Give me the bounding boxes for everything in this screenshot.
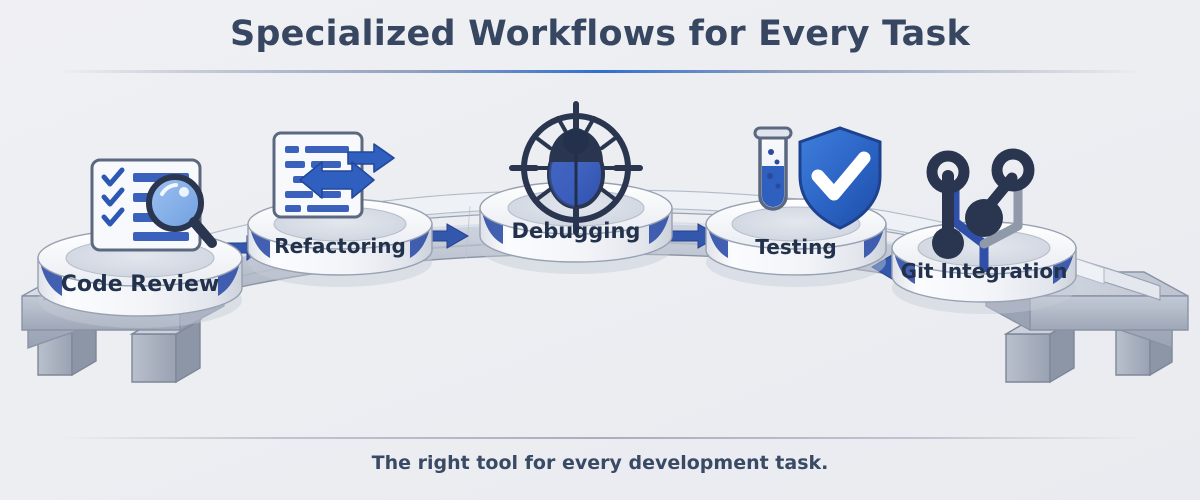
station-debugging (480, 104, 672, 274)
footer-caption: The right tool for every development tas… (0, 452, 1200, 474)
diagram-canvas: Specialized Workflows for Every Task (0, 0, 1200, 500)
station-code-review (38, 160, 242, 328)
station-testing (706, 128, 886, 287)
station-git-integration (892, 154, 1076, 314)
checklist-magnifier-icon (92, 160, 212, 250)
station-refactoring (248, 133, 432, 287)
footer-divider (60, 437, 1140, 439)
workflow-bridge-illustration: Code Review Refactoring Debugging Testin… (0, 0, 1200, 500)
